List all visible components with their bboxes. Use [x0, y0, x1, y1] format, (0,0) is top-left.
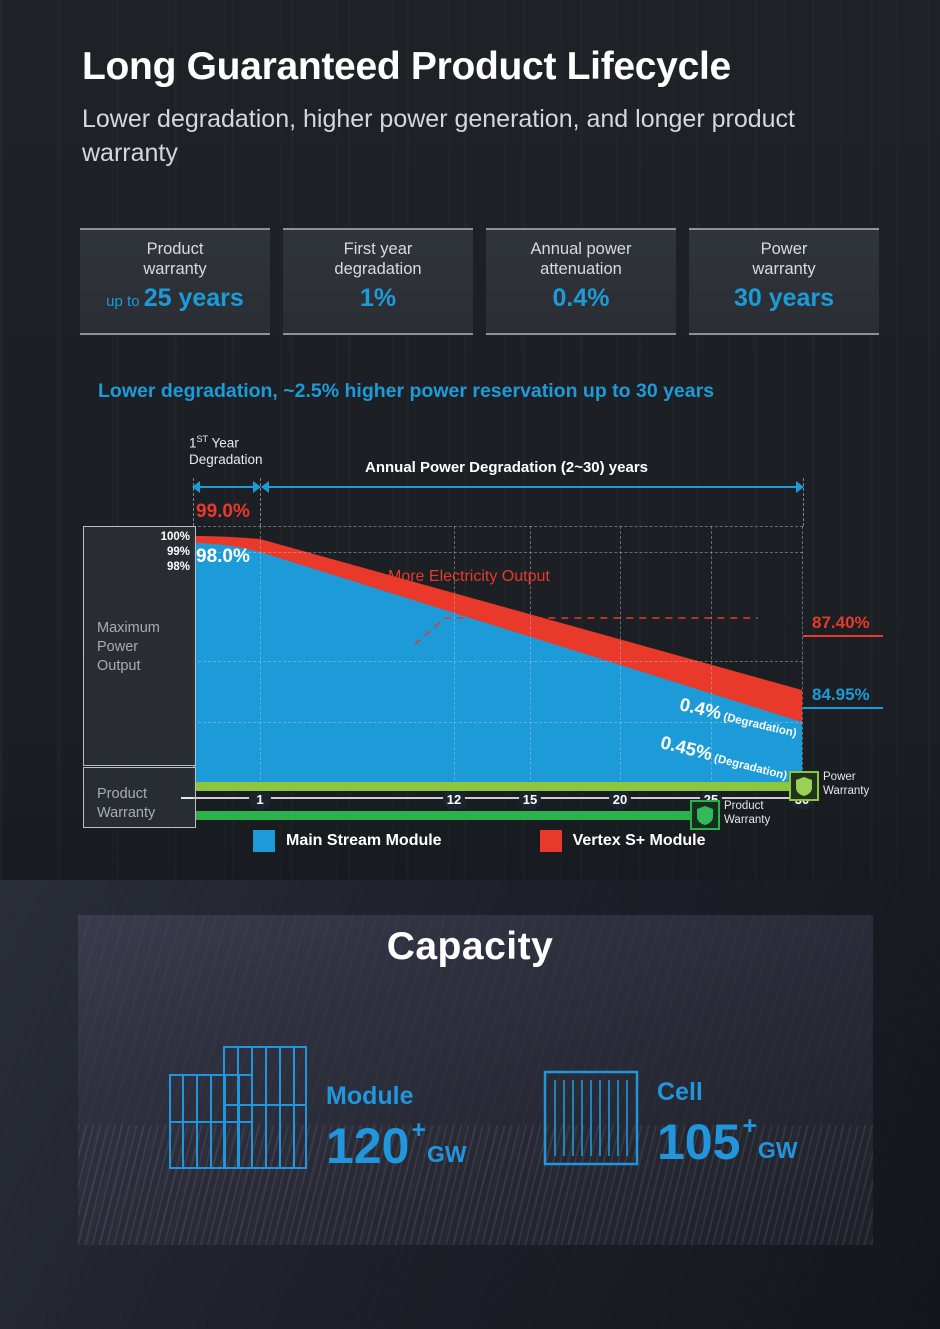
- annual-span-label: Annual Power Degradation (2~30) years: [365, 459, 648, 476]
- stat-card-value-prefix: up to: [106, 293, 144, 310]
- axis-label-box-product-warranty: Product Warranty: [83, 767, 196, 828]
- page-subtitle: Lower degradation, higher power generati…: [82, 103, 882, 171]
- arrow-head-left: [192, 481, 200, 493]
- first-year-sup: ST: [197, 434, 209, 444]
- capacity-unit: GW: [427, 1144, 467, 1166]
- stat-card-first-year-degradation: First year degradation 1%: [283, 228, 473, 335]
- capacity-number-block: 120 + GW: [326, 1123, 467, 1171]
- arrow-head-right: [796, 481, 804, 493]
- arrow-head-right: [253, 481, 261, 493]
- capacity-number-block: 105 + GW: [657, 1119, 798, 1167]
- capacity-plus: +: [742, 1115, 757, 1139]
- product-warranty-bar: [196, 811, 704, 820]
- page-title: Long Guaranteed Product Lifecycle: [82, 46, 882, 89]
- stat-card-product-warranty: Product warranty up to 25 years: [80, 228, 270, 335]
- stat-card-label-line2: attenuation: [540, 260, 622, 278]
- capacity-item-module: Module 120 + GW: [168, 1045, 467, 1170]
- capacity-plus: +: [411, 1119, 426, 1143]
- more-electricity-output-label: More Electricity Output: [388, 568, 550, 586]
- arrow-head-left: [261, 481, 269, 493]
- end-leader-line-mainstream: [803, 707, 883, 709]
- gridline-year20: [620, 526, 621, 790]
- gridline-year1: [260, 526, 261, 790]
- maximum-power-output-label: Maximum Power Output: [97, 619, 160, 676]
- x-tick-1: 1: [249, 788, 271, 810]
- stat-card-label-line1: Annual power: [531, 240, 632, 258]
- capacity-text-module: Module 120 + GW: [326, 1084, 467, 1171]
- power-warranty-label: Power Warranty: [823, 771, 869, 799]
- stat-card-label: First year degradation: [334, 239, 421, 279]
- power-warranty-label-line1: Power: [823, 771, 856, 783]
- x-axis-left-stub: [181, 797, 193, 799]
- capacity-number: 105: [657, 1119, 740, 1167]
- y-axis-tick-labels: 100% 99% 98%: [161, 530, 190, 576]
- gridline-year12: [454, 526, 455, 790]
- stat-card-value: 1%: [360, 284, 396, 313]
- power-warranty-badge: [789, 771, 819, 801]
- legend-swatch-blue: [253, 830, 275, 852]
- shield-icon: [796, 777, 812, 796]
- product-warranty-label-line2: Warranty: [724, 814, 770, 826]
- stat-card-annual-power-attenuation: Annual power attenuation 0.4%: [486, 228, 676, 335]
- stat-card-list: Product warranty up to 25 years First ye…: [80, 228, 879, 335]
- shield-icon: [697, 806, 713, 825]
- gridline-year15: [530, 526, 531, 790]
- first-year-span-label: 1ST Year Degradation: [189, 434, 263, 469]
- product-warranty-label-line1: Product: [724, 800, 764, 812]
- stat-card-label: Annual power attenuation: [531, 239, 632, 279]
- capacity-name: Cell: [657, 1080, 798, 1105]
- product-warranty-axis-label: Product Warranty: [97, 785, 155, 823]
- stat-card-label-line2: warranty: [752, 260, 815, 278]
- end-value-vertex: 87.40%: [812, 613, 870, 633]
- legend-label: Vertex S+ Module: [573, 832, 706, 850]
- product-warranty-label: Product Warranty: [724, 800, 770, 828]
- capacity-item-cell: Cell 105 + GW: [543, 1070, 798, 1166]
- stat-card-value-main: 25 years: [144, 284, 244, 312]
- power-warranty-label-line2: Warranty: [823, 785, 869, 797]
- capacity-name: Module: [326, 1084, 467, 1109]
- x-tick-15: 15: [519, 788, 541, 810]
- start-value-vertex: 99.0%: [196, 501, 250, 523]
- page-header: Long Guaranteed Product Lifecycle Lower …: [82, 46, 882, 170]
- stat-card-value: 30 years: [734, 284, 834, 313]
- chart-plot-area: More Electricity Output 0.4% (Degradatio…: [193, 526, 803, 790]
- first-year-num: 1: [189, 436, 197, 451]
- chart-legend: Main Stream Module Vertex S+ Module: [253, 830, 706, 852]
- capacity-number: 120: [326, 1123, 409, 1171]
- stat-card-value-main: 1%: [360, 284, 396, 312]
- first-year-line2: Degradation: [189, 452, 263, 467]
- stat-card-label-line1: Power: [761, 240, 808, 258]
- degradation-chart: 1ST Year Degradation Annual Power Degrad…: [0, 430, 940, 865]
- legend-label: Main Stream Module: [286, 832, 442, 850]
- legend-item-main-stream-module: Main Stream Module: [253, 830, 442, 852]
- solar-module-icon: [168, 1045, 308, 1170]
- y-tick-100: 100%: [161, 530, 190, 545]
- capacity-unit: GW: [758, 1140, 798, 1162]
- arrow-line: [262, 486, 803, 488]
- legend-swatch-red: [540, 830, 562, 852]
- stat-card-label-line1: First year: [344, 240, 413, 258]
- end-value-mainstream: 84.95%: [812, 685, 870, 705]
- chart-headline: Lower degradation, ~2.5% higher power re…: [98, 380, 714, 403]
- x-axis-line: [193, 797, 816, 799]
- stat-card-label-line1: Product: [147, 240, 204, 258]
- stat-card-value-main: 30 years: [734, 284, 834, 312]
- page-root: Long Guaranteed Product Lifecycle Lower …: [0, 0, 940, 1329]
- stat-card-label-line2: degradation: [334, 260, 421, 278]
- capacity-text-cell: Cell 105 + GW: [657, 1080, 798, 1167]
- arrow-line: [193, 486, 260, 488]
- stat-card-label: Power warranty: [752, 239, 815, 279]
- stat-card-value-main: 0.4%: [553, 284, 610, 312]
- stat-card-value: 0.4%: [553, 284, 610, 313]
- stat-card-value: up to 25 years: [106, 284, 244, 313]
- power-warranty-bar: [196, 782, 806, 791]
- stat-card-label-line2: warranty: [143, 260, 206, 278]
- x-tick-20: 20: [609, 788, 631, 810]
- solar-cell-icon: [543, 1070, 639, 1166]
- annual-span-arrow: [262, 481, 803, 493]
- start-value-mainstream: 98.0%: [196, 546, 250, 568]
- x-axis: 1 12 15 20 25 30: [193, 788, 816, 810]
- axis-label-box-maximum-power-output: 100% 99% 98% Maximum Power Output: [83, 526, 196, 766]
- product-warranty-badge: [690, 800, 720, 830]
- y-tick-99: 99%: [161, 545, 190, 560]
- capacity-title: Capacity: [0, 925, 940, 969]
- first-year-rest: Year: [208, 436, 239, 451]
- stat-card-label: Product warranty: [143, 239, 206, 279]
- stat-card-power-warranty: Power warranty 30 years: [689, 228, 879, 335]
- y-tick-98: 98%: [161, 560, 190, 575]
- x-tick-12: 12: [443, 788, 465, 810]
- legend-item-vertex-s-plus-module: Vertex S+ Module: [540, 830, 706, 852]
- end-leader-line-vertex: [803, 635, 883, 637]
- first-year-span-arrow: [193, 481, 260, 493]
- gridline-year30: [802, 526, 803, 790]
